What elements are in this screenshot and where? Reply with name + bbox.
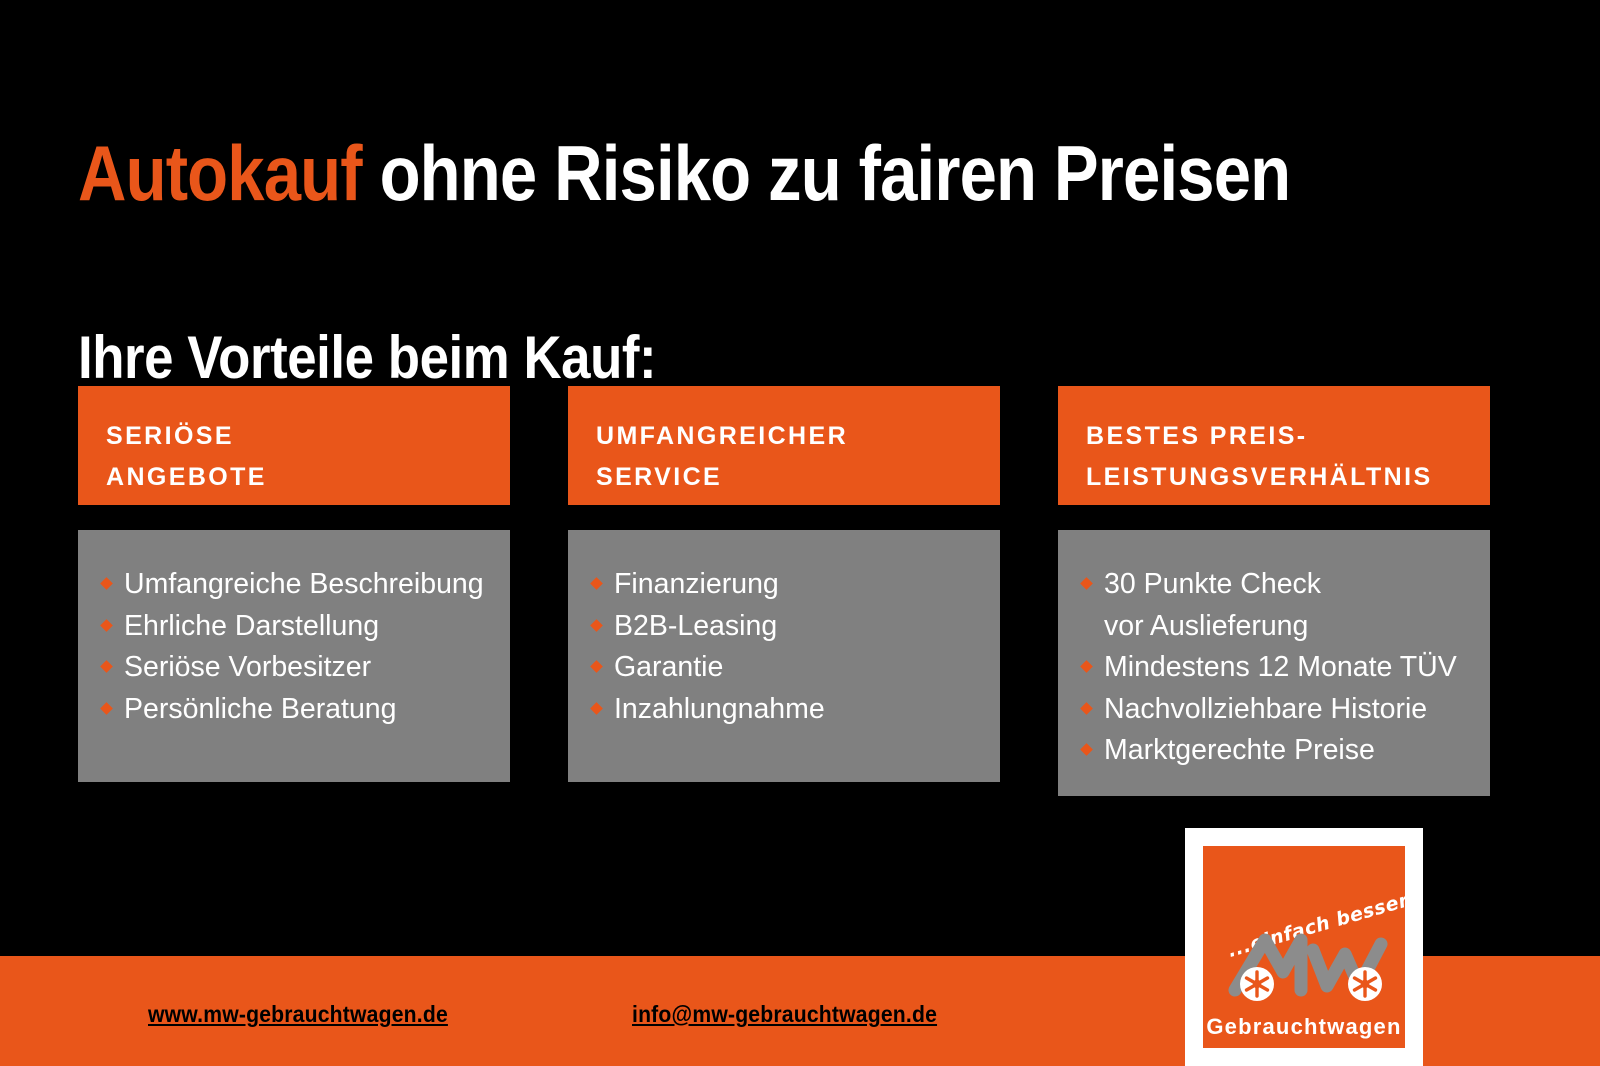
list-item-label: Finanzierung xyxy=(614,568,779,600)
mw-monogram-icon xyxy=(1213,920,1393,1004)
diamond-bullet-icon xyxy=(100,702,113,715)
diamond-bullet-icon xyxy=(1080,660,1093,673)
list-item-label: Ehrliche Darstellung xyxy=(124,610,379,642)
list-item-label: Marktgerechte Preise xyxy=(1104,734,1375,766)
list-item: Finanzierung xyxy=(586,564,982,606)
footer-website-link[interactable]: www.mw-gebrauchtwagen.de xyxy=(148,1001,448,1028)
headline-rest: ohne Risiko zu fairen Preisen xyxy=(362,129,1290,217)
list-item-label: Seriöse Vorbesitzer xyxy=(124,651,371,683)
bullet-list-3: 30 Punkte Check vor Auslieferung Mindest… xyxy=(1076,564,1472,772)
column-header-2-label: UMFANGREICHER SERVICE xyxy=(596,416,1000,497)
diamond-bullet-icon xyxy=(100,577,113,590)
list-item: Umfangreiche Beschreibung xyxy=(96,564,492,606)
list-item: B2B-Leasing xyxy=(586,606,982,648)
column-body-1: Umfangreiche Beschreibung Ehrliche Darst… xyxy=(78,530,510,782)
list-item: Marktgerechte Preise xyxy=(1076,730,1472,772)
list-item: Mindestens 12 Monate TÜV xyxy=(1076,647,1472,689)
poster-canvas: Autokauf ohne Risiko zu fairen Preisen I… xyxy=(0,0,1600,1066)
diamond-bullet-icon xyxy=(1080,744,1093,757)
column-body-2: Finanzierung B2B-Leasing Garantie Inzahl… xyxy=(568,530,1000,782)
column-header-2: UMFANGREICHER SERVICE xyxy=(568,386,1000,505)
list-item-label: Nachvollziehbare Historie xyxy=(1104,693,1427,725)
list-item-label: Umfangreiche Beschreibung xyxy=(124,568,484,600)
diamond-bullet-icon xyxy=(1080,577,1093,590)
benefit-column-bestes-preis-leistungsverhaeltnis: BESTES PREIS- LEISTUNGSVERHÄLTNIS 30 Pun… xyxy=(1058,386,1490,796)
list-item: Ehrliche Darstellung xyxy=(96,606,492,648)
diamond-bullet-icon xyxy=(590,577,603,590)
diamond-bullet-icon xyxy=(590,660,603,673)
list-item: Seriöse Vorbesitzer xyxy=(96,647,492,689)
list-item: Nachvollziehbare Historie xyxy=(1076,689,1472,731)
diamond-bullet-icon xyxy=(100,619,113,632)
subheading: Ihre Vorteile beim Kauf: xyxy=(78,328,656,388)
list-item-label: 30 Punkte Check vor Auslieferung xyxy=(1104,568,1321,642)
list-item-label: B2B-Leasing xyxy=(614,610,777,642)
list-item-label: Garantie xyxy=(614,651,723,683)
list-item: 30 Punkte Check vor Auslieferung xyxy=(1076,564,1472,647)
list-item-label: Mindestens 12 Monate TÜV xyxy=(1104,651,1457,683)
column-header-1: SERIÖSE ANGEBOTE xyxy=(78,386,510,505)
diamond-bullet-icon xyxy=(100,660,113,673)
column-header-3: BESTES PREIS- LEISTUNGSVERHÄLTNIS xyxy=(1058,386,1490,505)
column-body-3: 30 Punkte Check vor Auslieferung Mindest… xyxy=(1058,530,1490,796)
list-item: Persönliche Beratung xyxy=(96,689,492,731)
column-header-1-label: SERIÖSE ANGEBOTE xyxy=(106,416,510,497)
benefit-column-serioese-angebote: SERIÖSE ANGEBOTE Umfangreiche Beschreibu… xyxy=(78,386,510,796)
list-item: Garantie xyxy=(586,647,982,689)
headline-accent-word: Autokauf xyxy=(78,129,362,217)
diamond-bullet-icon xyxy=(590,619,603,632)
benefit-column-umfangreicher-service: UMFANGREICHER SERVICE Finanzierung B2B-L… xyxy=(568,386,1000,796)
diamond-bullet-icon xyxy=(590,702,603,715)
bullet-list-2: Finanzierung B2B-Leasing Garantie Inzahl… xyxy=(586,564,982,730)
list-item: Inzahlungnahme xyxy=(586,689,982,731)
list-item-label: Inzahlungnahme xyxy=(614,693,825,725)
footer-email-link[interactable]: info@mw-gebrauchtwagen.de xyxy=(632,1001,937,1028)
benefit-columns: SERIÖSE ANGEBOTE Umfangreiche Beschreibu… xyxy=(78,386,1490,796)
list-item-label: Persönliche Beratung xyxy=(124,693,397,725)
company-logo: ...einfach besser! Gebrauchtwagen xyxy=(1185,828,1423,1066)
logo-inner-panel: ...einfach besser! Gebrauchtwagen xyxy=(1203,846,1405,1048)
page-title: Autokauf ohne Risiko zu fairen Preisen xyxy=(78,134,1325,212)
logo-wordmark: Gebrauchtwagen xyxy=(1203,1014,1405,1040)
bullet-list-1: Umfangreiche Beschreibung Ehrliche Darst… xyxy=(96,564,492,730)
column-header-3-label: BESTES PREIS- LEISTUNGSVERHÄLTNIS xyxy=(1086,416,1490,497)
diamond-bullet-icon xyxy=(1080,702,1093,715)
